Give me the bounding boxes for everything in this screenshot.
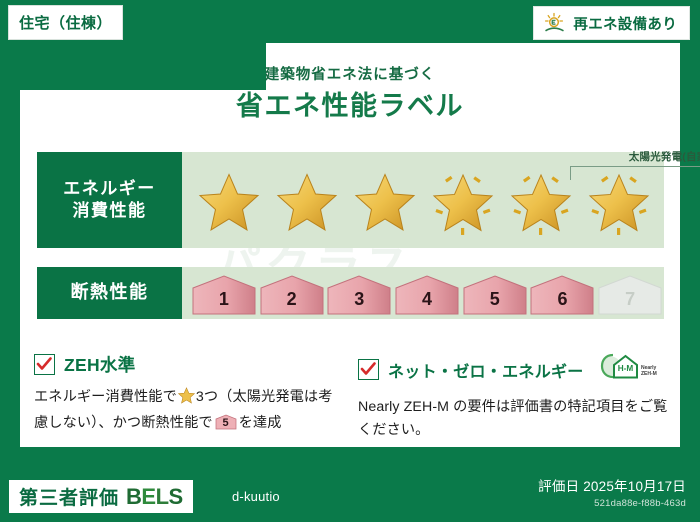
building-type-label: 住宅（住棟）: [19, 12, 112, 33]
bels-certification-mark: 第三者評価 BELS: [9, 480, 193, 513]
insulation-level-number: 2: [258, 289, 326, 310]
zeh-body-part4: を達成: [239, 415, 282, 431]
insulation-level-1: 1: [190, 267, 258, 319]
net-zero-energy-body: Nearly ZEH-M の要件は評価書の特記項目をご覧ください。: [358, 396, 668, 442]
insulation-level-3: 3: [325, 267, 393, 319]
insulation-level-5: 5: [461, 267, 529, 319]
evaluation-meta: 評価日 2025年10月17日 521da88e-f88b-463d: [538, 475, 686, 509]
label-canvas: 住宅（住棟） 再エネ設備あり 建築物省エネ法に基づく 省エネ性能ラベル パクラス: [0, 0, 700, 522]
insulation-level-6: 6: [529, 267, 597, 319]
insulation-level-number: 3: [325, 289, 393, 310]
star-filled: [190, 152, 268, 248]
star-filled-solar: [580, 152, 658, 248]
star-filled: [268, 152, 346, 248]
net-zero-energy-title: ネット・ゼロ・エネルギー: [388, 358, 584, 382]
zeh-standard-heading: ZEH水準: [34, 352, 334, 377]
insulation-level-4: 4: [393, 267, 461, 319]
company-name: d-kuutio: [232, 489, 280, 504]
check-icon: [358, 359, 379, 380]
zeh-standard-title: ZEH水準: [64, 352, 136, 377]
star-filled-solar: [502, 152, 580, 248]
bels-logo: BELS: [126, 484, 183, 510]
renewable-energy-badge: 再エネ設備あり: [533, 6, 690, 40]
net-zero-energy-block: ネット・ゼロ・エネルギー H-M Nearly ZEH-M Nearly ZEH…: [358, 352, 668, 442]
check-icon: [34, 354, 55, 375]
insulation-performance-label: 断熱性能: [37, 267, 182, 319]
insulation-performance-body: 1 2 3 4: [182, 267, 664, 319]
sun-icon: [543, 12, 567, 34]
star-filled: [346, 152, 424, 248]
zeh-body-part2: （太陽光発電: [218, 389, 304, 405]
energy-performance-body: 太陽光発電(自家消費)分: [182, 152, 664, 248]
svg-text:H-M: H-M: [617, 364, 633, 373]
insulation-level-2: 2: [258, 267, 326, 319]
inline-star-icon: [178, 387, 195, 412]
insulation-level-number: 1: [190, 289, 258, 310]
renewable-energy-label: 再エネ設備あり: [573, 13, 677, 34]
insulation-level-number: 4: [393, 289, 461, 310]
evaluation-date: 評価日 2025年10月17日: [538, 475, 686, 495]
insulation-performance-row: 断熱性能 1 2: [37, 267, 664, 319]
label-title: 省エネ性能ラベル: [0, 84, 700, 123]
third-party-label: 第三者評価: [19, 483, 119, 510]
svg-text:ZEH-M: ZEH-M: [641, 371, 657, 377]
net-zero-energy-heading: ネット・ゼロ・エネルギー H-M Nearly ZEH-M: [358, 352, 668, 387]
label-subtitle: 建築物省エネ法に基づく: [0, 63, 700, 84]
insulation-badge-number: 5: [215, 415, 237, 433]
star-rating: [182, 152, 664, 248]
insulation-level-number: 7: [596, 289, 664, 310]
star-filled-solar: [424, 152, 502, 248]
insulation-level-number: 5: [461, 289, 529, 310]
building-type-tab: 住宅（住棟）: [8, 5, 123, 40]
zeh-standard-block: ZEH水準 エネルギー消費性能で3つ（太陽光発電は考慮しない）、かつ断熱性能で5…: [34, 352, 334, 435]
energy-performance-label: エネルギー 消費性能: [37, 152, 182, 248]
zeh-standard-body: エネルギー消費性能で3つ（太陽光発電は考慮しない）、かつ断熱性能で5を達成: [34, 386, 334, 435]
document-id: 521da88e-f88b-463d: [538, 498, 686, 509]
zeh-m-logo-icon: H-M Nearly ZEH-M: [598, 352, 660, 387]
insulation-badge-5: 5: [215, 414, 237, 430]
insulation-level-7: 7: [596, 267, 664, 319]
energy-performance-row: エネルギー 消費性能 太陽光発電(自家消費)分: [37, 152, 664, 248]
zeh-body-part1: エネルギー消費性能で: [34, 389, 177, 405]
zeh-body-count: 3つ: [196, 389, 218, 405]
insulation-scale: 1 2 3 4: [182, 267, 664, 319]
insulation-level-number: 6: [529, 289, 597, 310]
